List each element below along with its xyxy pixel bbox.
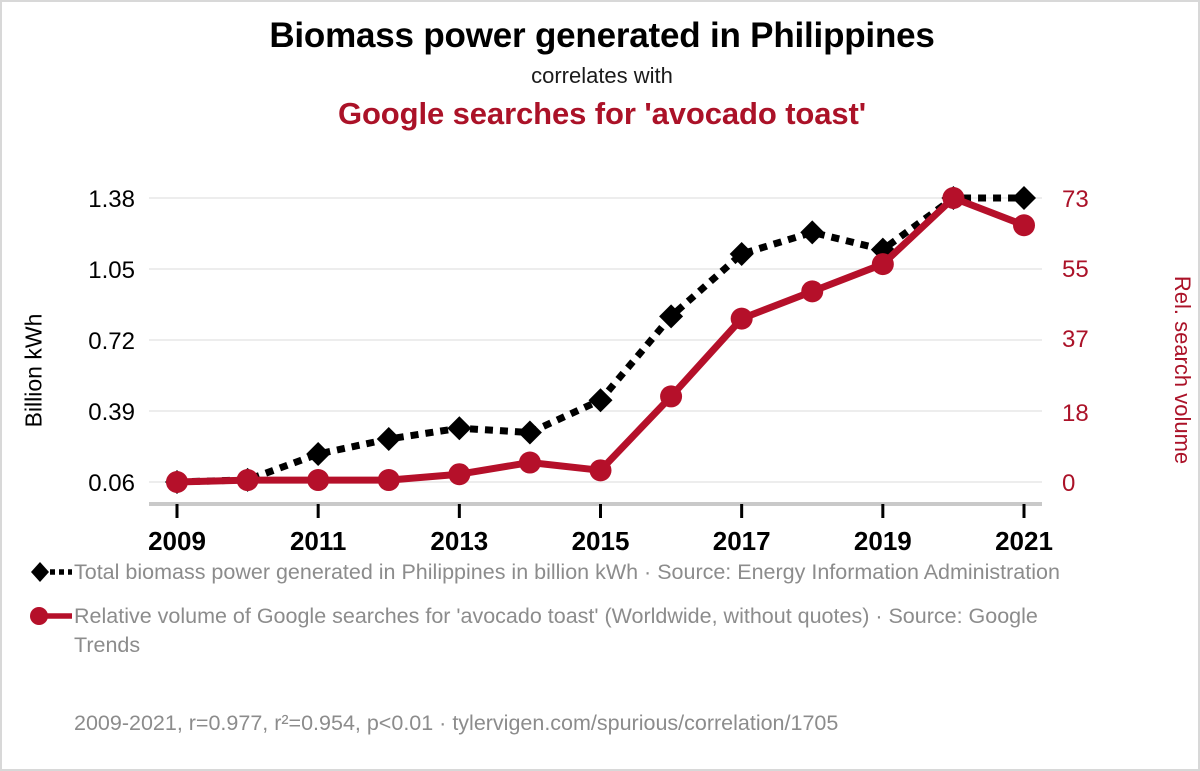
y-axis-right-tick: 18 [1062,400,1089,427]
y-axis-left-label: Billion kWh [21,261,48,481]
page-subtitle: Google searches for 'avocado toast' [2,95,1200,132]
data-point-marker [1013,214,1035,236]
x-axis-tick-label: 2019 [854,526,912,552]
page-title: Biomass power generated in Philippines [2,16,1200,57]
data-point-marker [589,388,613,412]
y-axis-left-tick: 0.72 [88,328,135,355]
data-point-marker [518,421,542,445]
data-point-marker [377,427,401,451]
plot-area: 0.0600.39180.72371.05551.387320092011201… [2,172,1200,552]
y-axis-left-tick: 0.06 [88,470,135,497]
y-axis-right-tick: 55 [1062,256,1089,283]
x-axis-tick-label: 2009 [148,526,206,552]
title-connector: correlates with [2,59,1200,92]
x-axis-tick-label: 2015 [572,526,630,552]
chart-title-block: Biomass power generated in Philippines c… [2,16,1200,132]
data-point-marker [447,416,471,440]
data-point-marker [306,442,330,466]
data-point-marker [378,469,400,491]
y-axis-right-tick: 37 [1062,326,1089,353]
x-axis-tick-label: 2021 [995,526,1053,552]
y-axis-right-label: Rel. search volume [1169,230,1195,510]
legend-label-google: Relative volume of Google searches for '… [74,602,1084,659]
data-point-marker [1012,186,1036,210]
x-axis-tick-label: 2013 [430,526,488,552]
y-axis-right-tick: 0 [1062,470,1075,497]
x-axis-tick-label: 2011 [290,526,346,552]
chart-page: Biomass power generated in Philippines c… [0,0,1200,771]
data-point-marker [590,459,612,481]
y-axis-left-tick: 0.39 [88,399,135,426]
y-axis-left-tick: 1.05 [88,257,135,284]
data-point-marker [660,385,682,407]
data-point-marker [448,463,470,485]
data-point-marker [942,187,964,209]
legend-label-biomass: Total biomass power generated in Philipp… [74,558,1060,586]
data-point-marker [730,242,754,266]
data-point-marker [519,452,541,474]
legend-item-biomass: Total biomass power generated in Philipp… [28,558,1178,586]
data-point-marker [166,471,188,493]
data-point-marker [801,280,823,302]
red-circle-solid-icon [28,603,74,629]
footer-stats: 2009-2021, r=0.977, r²=0.954, p<0.01 · t… [74,710,838,738]
x-axis-tick-label: 2017 [713,526,771,552]
legend-item-google: Relative volume of Google searches for '… [28,602,1178,659]
data-point-marker [731,308,753,330]
y-axis-left-tick: 1.38 [88,186,135,213]
chart-legend: Total biomass power generated in Philipp… [28,558,1178,673]
correlation-line-chart: 0.0600.39180.72371.05551.387320092011201… [2,172,1200,552]
data-point-marker [307,469,329,491]
data-point-marker [237,469,259,491]
data-point-marker [800,220,824,244]
black-diamond-dotted-icon [28,559,74,585]
data-point-marker [872,253,894,275]
y-axis-right-tick: 73 [1062,186,1089,213]
